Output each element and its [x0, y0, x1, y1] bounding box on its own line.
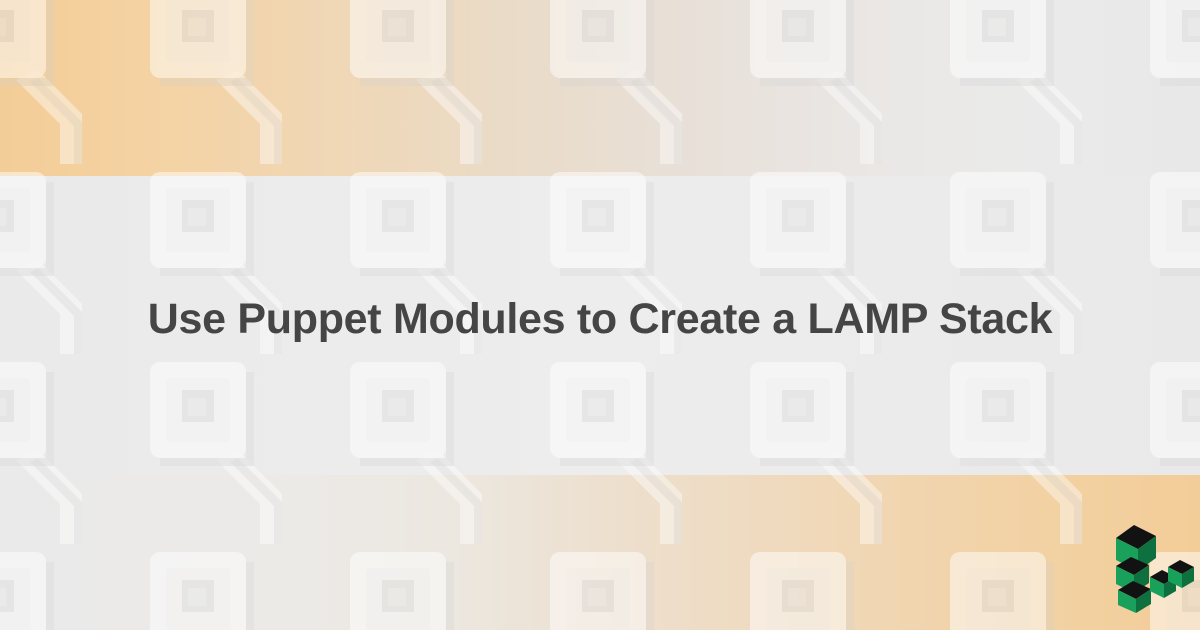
page-title: Use Puppet Modules to Create a LAMP Stac… — [148, 298, 1052, 341]
social-share-banner: Use Puppet Modules to Create a LAMP Stac… — [0, 0, 1200, 630]
title-container: Use Puppet Modules to Create a LAMP Stac… — [0, 288, 1200, 350]
puppet-cubes-logo — [1108, 518, 1200, 613]
